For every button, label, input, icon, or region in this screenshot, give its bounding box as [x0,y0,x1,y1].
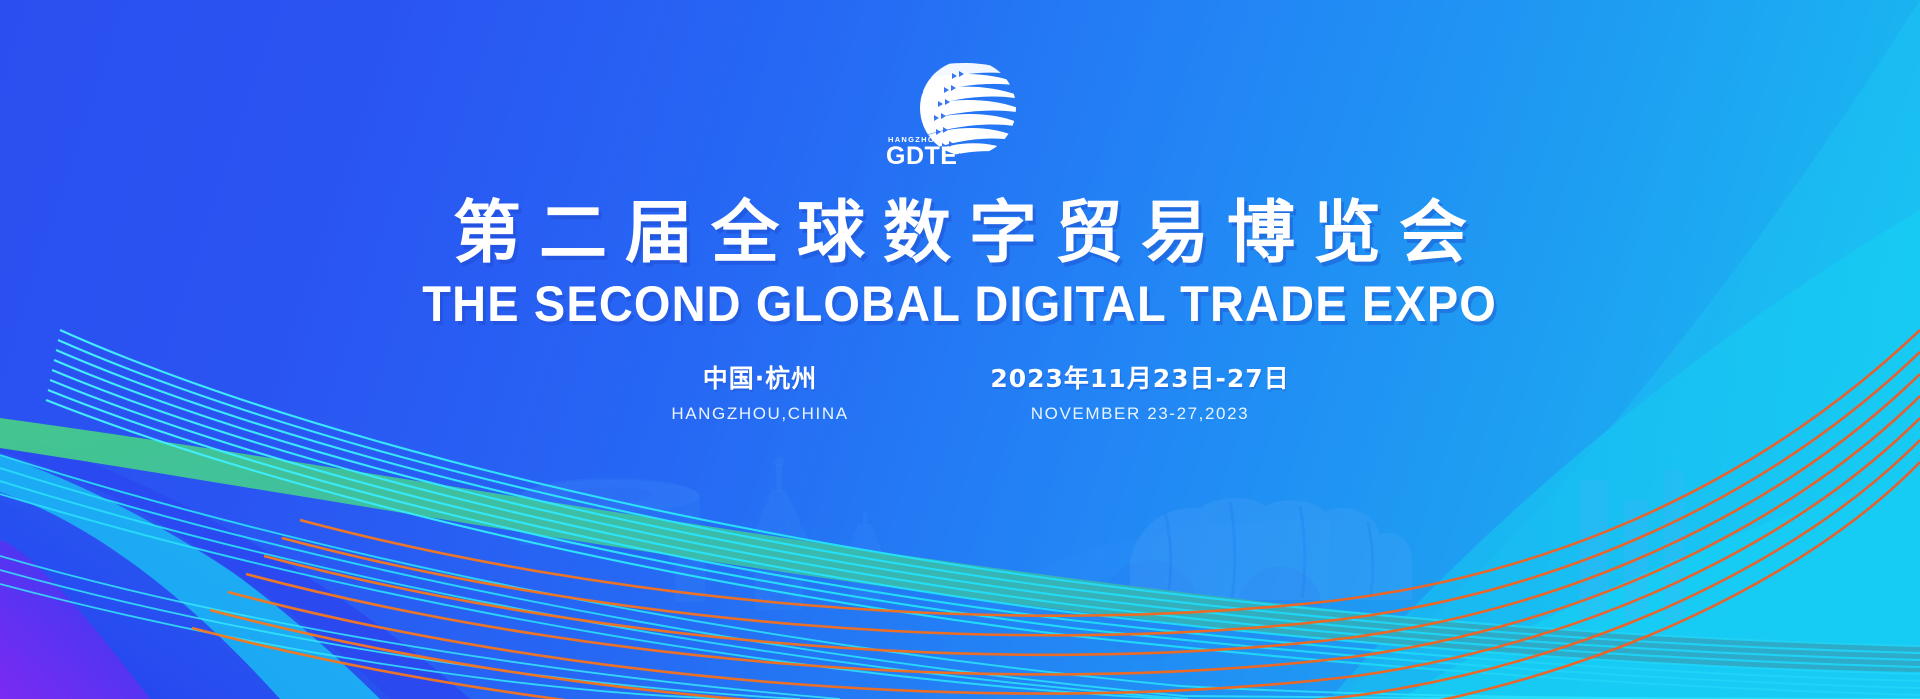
meta-row: 中国·杭州 HANGZHOU,CHINA 2023年11月23日-27日 NOV… [580,359,1340,424]
logo-acronym: GDTE [886,142,957,170]
globe-logo-icon: HANGZHOU GDTE [880,56,1040,174]
date-block: 2023年11月23日-27日 NOVEMBER 23-27,2023 [940,359,1340,424]
location-chinese: 中国·杭州 [580,359,940,395]
gdte-logo: HANGZHOU GDTE [880,56,1040,174]
location-english: HANGZHOU,CHINA [580,404,940,424]
date-english: NOVEMBER 23-27,2023 [940,404,1340,424]
date-chinese: 2023年11月23日-27日 [940,359,1340,395]
location-block: 中国·杭州 HANGZHOU,CHINA [580,359,940,424]
title-english: THE SECOND GLOBAL DIGITAL TRADE EXPO [423,275,1498,333]
title-chinese: 第二届全球数字贸易博览会 [435,198,1485,269]
expo-banner: HANGZHOU GDTE 第二届全球数字贸易博览会 THE SECOND GL… [0,0,1920,699]
